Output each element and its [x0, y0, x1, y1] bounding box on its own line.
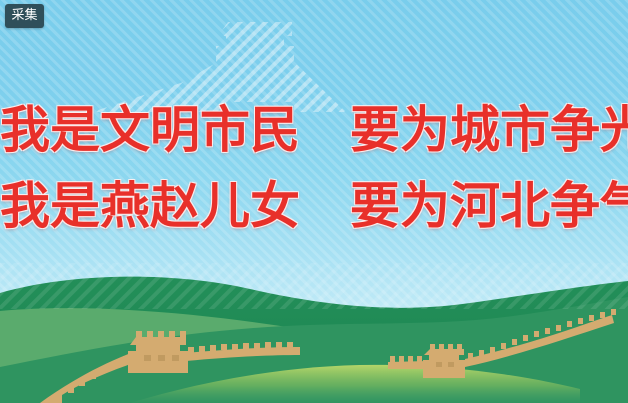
banner-image: 我是文明市民 要为城市争光 我是燕赵儿女 要为河北争气 采集 — [0, 0, 628, 403]
capture-button[interactable]: 采集 — [5, 4, 44, 28]
hills-landscape — [0, 263, 628, 403]
